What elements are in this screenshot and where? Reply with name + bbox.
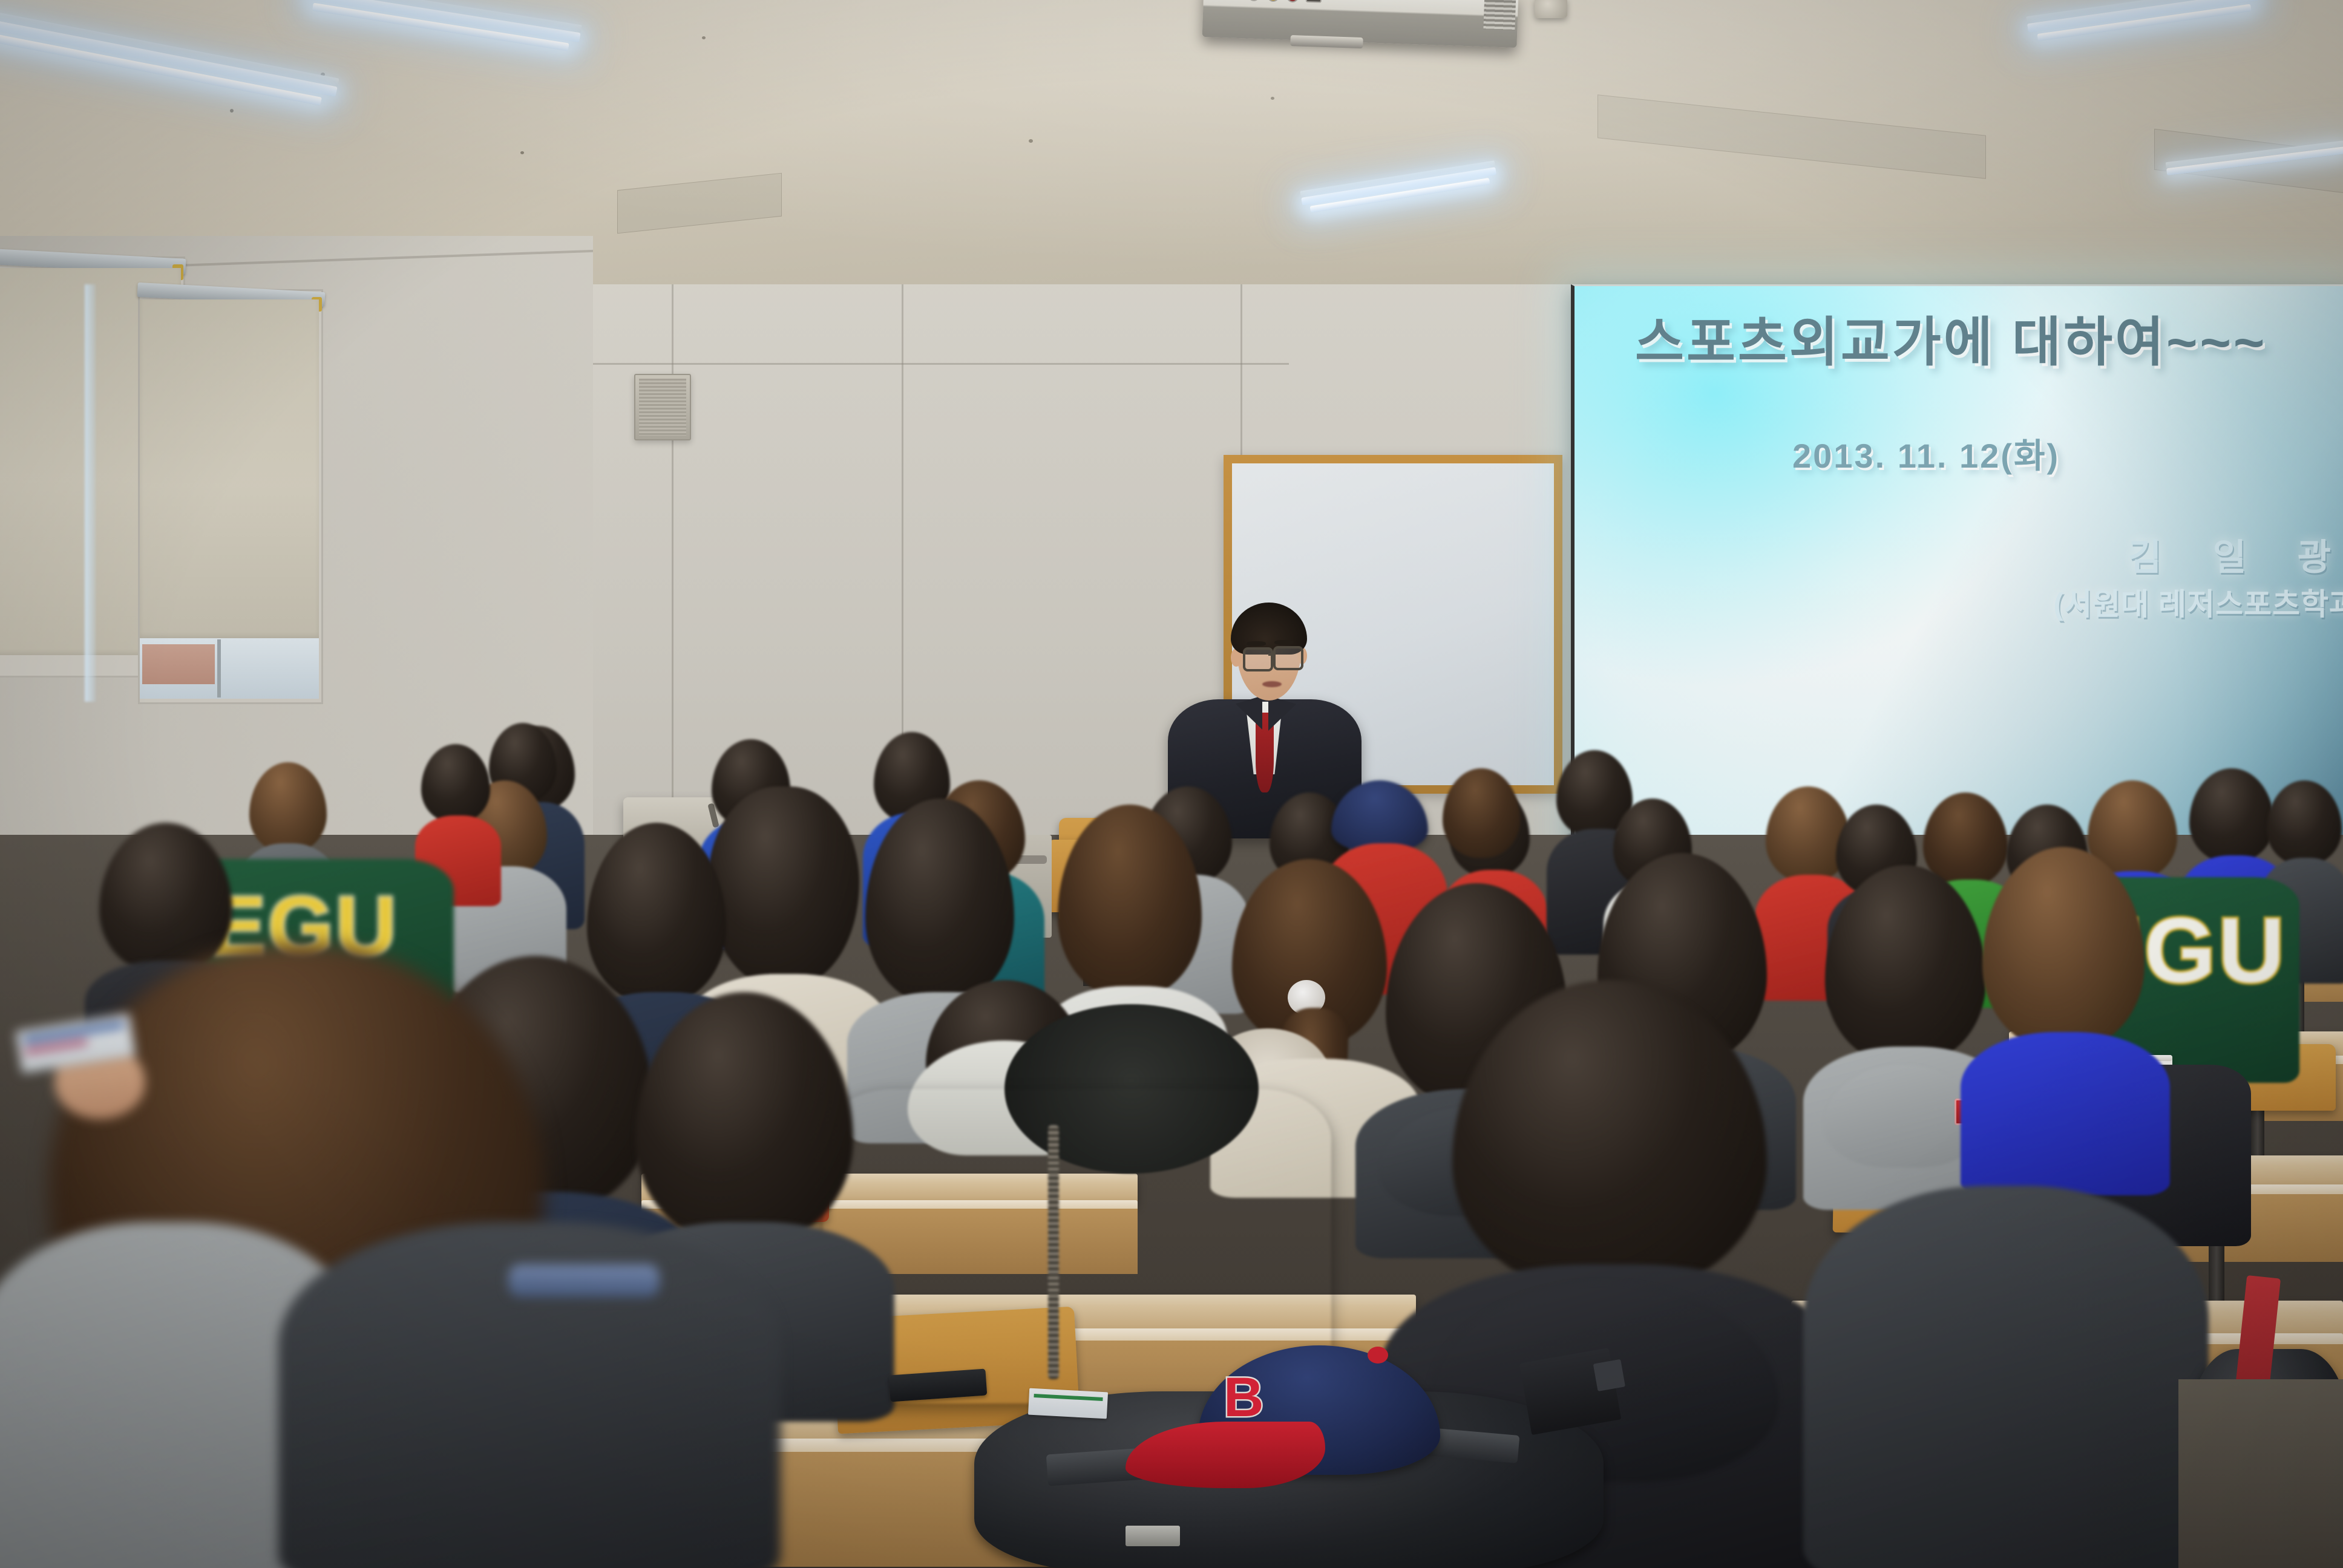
baseball-cap (1331, 780, 1428, 852)
jacket-zipper (1048, 1125, 1059, 1379)
window-mullion (217, 639, 221, 697)
exterior-building (142, 644, 215, 684)
audience-member (1961, 847, 2166, 1186)
audience-member (278, 1186, 775, 1568)
roller-blind[interactable] (140, 299, 319, 638)
window-light-gap (85, 284, 96, 702)
lecture-hall-photo: 스포츠외교가에 대하여~~~ 2013. 11. 12(화) 김 일 광 (서원… (0, 0, 2343, 1568)
hand-holding-paper (18, 1022, 157, 1131)
paper-on-desk[interactable] (1028, 1388, 1108, 1419)
sprinkler-icon (1535, 0, 1567, 18)
baseball-cap-on-desk[interactable]: B (1126, 1337, 1464, 1494)
water-bottle[interactable] (1519, 1348, 1622, 1435)
slide-title: 스포츠외교가에 대하여~~~ (1635, 299, 2267, 376)
cap-letter: B (1224, 1366, 1263, 1429)
slide-presenter-affiliation: (서원대 레저스포츠학과 (2053, 580, 2343, 624)
wall-speaker (634, 374, 691, 440)
window-left-2 (138, 289, 323, 704)
audience-member (1803, 1137, 2203, 1568)
jacket-stripe (508, 1264, 660, 1297)
slide-presenter-name: 김 일 광 (2128, 528, 2343, 581)
slide-date: 2013. 11. 12(화) (1792, 429, 2060, 478)
eyeglasses-icon (1273, 646, 1303, 670)
eyeglasses-icon (1243, 647, 1273, 671)
floor-right (2178, 1379, 2343, 1568)
